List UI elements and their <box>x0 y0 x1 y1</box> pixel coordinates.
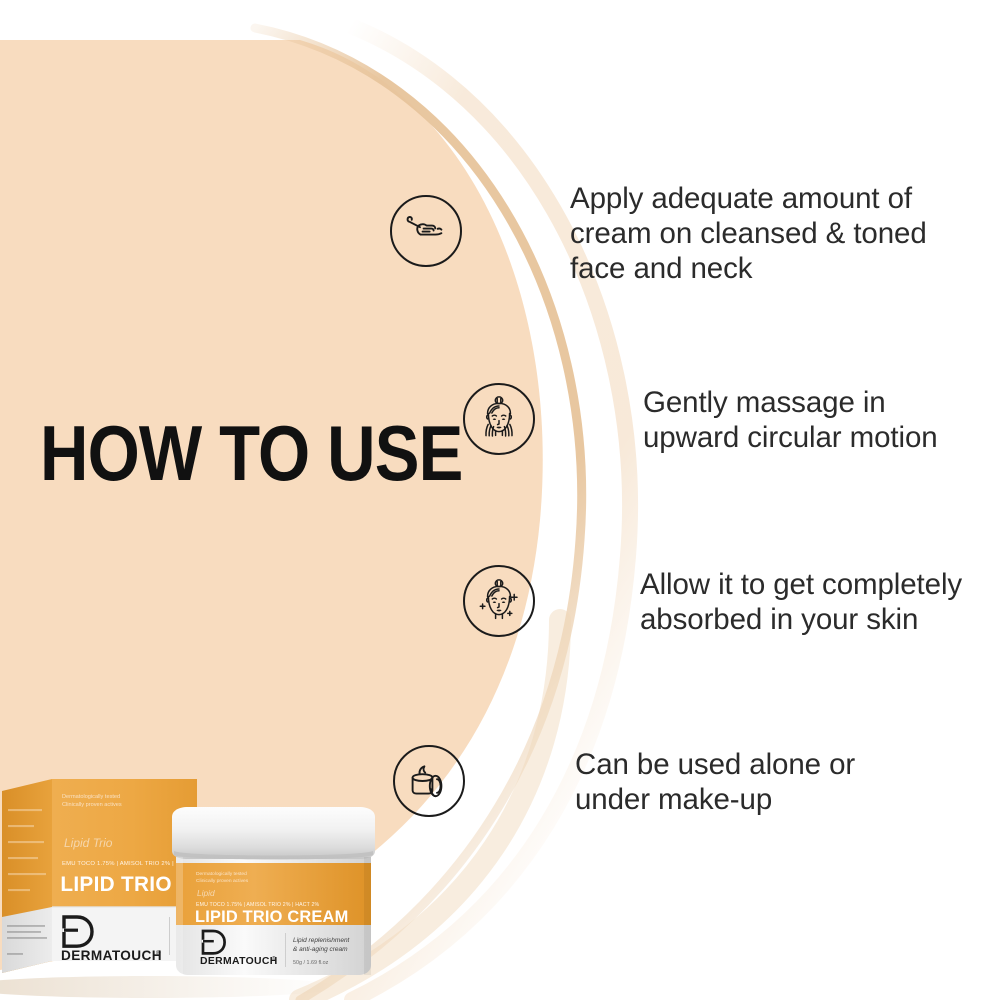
step-item-4: Can be used alone or under make-up <box>393 745 855 817</box>
box-divider <box>169 917 170 955</box>
face-glow-sparkle-icon <box>463 565 535 637</box>
jar-net-weight: 50g / 1.69 fl.oz <box>293 960 329 966</box>
step-text-1: Apply adequate amount of cream on cleans… <box>570 181 927 286</box>
step-item-1: Apply adequate amount of cream on cleans… <box>390 195 927 286</box>
step-text-2: Gently massage in upward circular motion <box>643 385 938 455</box>
jar-script-mark: Lipid <box>197 888 215 898</box>
product-image: Dermatologically tested Clinically prove… <box>0 765 420 1000</box>
box-side-panel-white <box>2 907 52 973</box>
jar-descriptor-line-2: & anti-aging cream <box>293 946 348 953</box>
infographic-canvas: HOW TO USE Apply adequate amount of crea… <box>0 0 1000 1000</box>
product-jar: Dermatologically tested Clinically prove… <box>172 807 375 975</box>
jar-descriptor-line-1: Lipid replenishment <box>293 937 351 944</box>
page-title: HOW TO USE <box>40 414 462 492</box>
step-item-3: Allow it to get completely absorbed in y… <box>463 565 962 637</box>
box-brand-name: DERMATOUCH <box>61 948 162 963</box>
jar-brand-mark: ® <box>272 955 276 962</box>
box-brand-mark: ® <box>156 949 161 957</box>
step-text-4: Can be used alone or under make-up <box>575 747 855 817</box>
step-item-2: Gently massage in upward circular motion <box>463 383 938 455</box>
product-shadow <box>0 976 340 998</box>
box-claim-line-1: Dermatologically tested <box>62 794 120 800</box>
jar-product-name: LIPID TRIO CREAM <box>195 908 348 926</box>
jar-lid <box>172 807 375 859</box>
jar-brand-name: DERMATOUCH <box>200 956 278 967</box>
jar-divider <box>285 933 286 967</box>
box-claim-line-2: Clinically proven actives <box>62 802 122 808</box>
jar-claim-line-2: Clinically proven actives <box>196 878 249 884</box>
jar-claim-line-1: Dermatologically tested <box>196 871 247 877</box>
hand-applying-cream-icon <box>390 195 462 267</box>
step-text-3: Allow it to get completely absorbed in y… <box>640 567 962 637</box>
face-massage-icon <box>463 383 535 455</box>
box-script-mark: Lipid Trio <box>64 836 113 850</box>
